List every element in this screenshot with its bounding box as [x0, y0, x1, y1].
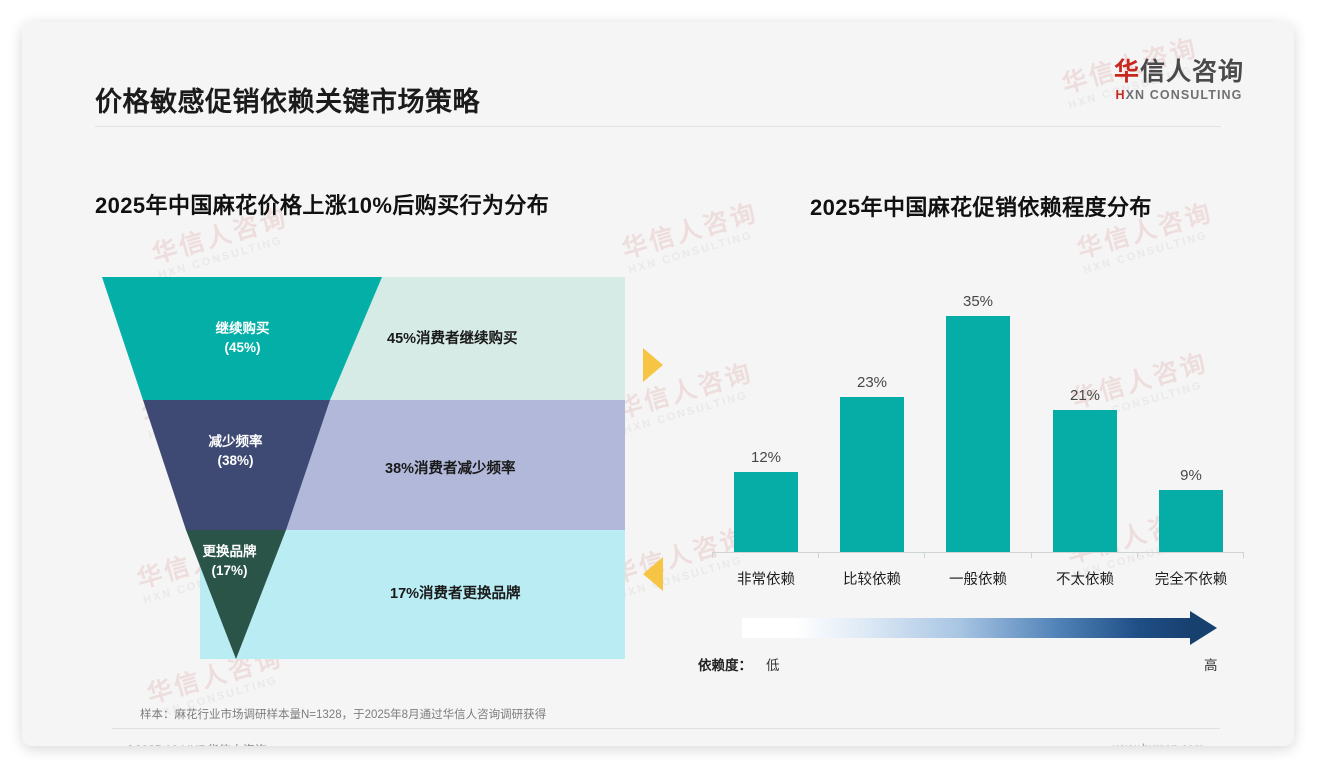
title-divider [95, 126, 1221, 127]
legend-caption: 依赖度： [698, 654, 752, 674]
bar-比较依赖[interactable] [840, 397, 904, 552]
slide-card: 华信人咨询 HXN CONSULTING 华信人咨询 HXN CONSULTIN… [22, 22, 1294, 746]
legend-low-label: 低 [766, 654, 780, 674]
x-axis-category-label: 完全不依赖 [1137, 568, 1245, 589]
website-url[interactable]: www.hxrcon.com [1113, 741, 1204, 746]
bar-不太依赖[interactable] [1053, 410, 1117, 552]
bar-非常依赖[interactable] [734, 472, 798, 552]
x-axis-tick [1137, 553, 1138, 558]
footer-divider [112, 728, 1220, 729]
arrow-right-icon [1190, 611, 1217, 645]
x-axis-line [712, 552, 1244, 553]
x-axis-category-label: 非常依赖 [712, 568, 820, 589]
bar-value-label: 9% [1141, 467, 1241, 484]
bar-value-label: 12% [716, 449, 816, 466]
copyright-text: ©2025.10 HXR华信人咨询 [126, 741, 267, 746]
watermark-en: HXN CONSULTING [1082, 226, 1220, 277]
x-axis-tick [818, 553, 819, 558]
dependency-bar-chart: 12% 23% 35% 21% 9% 非常依赖 比较依赖 一般依赖 不太依赖 [698, 284, 1258, 594]
watermark: 华信人咨询 HXN CONSULTING [619, 199, 765, 277]
x-axis-category-label: 一般依赖 [924, 568, 1032, 589]
segment-3-name: 更换品牌 [192, 542, 267, 561]
segment-1-pct: (45%) [205, 338, 280, 357]
funnel-segment-2-label: 减少频率 (38%) [198, 432, 273, 470]
company-logo: 华信人咨询 HXN CONSULTING [1114, 58, 1244, 102]
gradient-bar [742, 618, 1192, 638]
funnel-chart: 继续购买 (45%) 减少频率 (38%) 更换品牌 (17%) 45%消费者继… [100, 277, 625, 659]
source-note: 样本：麻花行业市场调研样本量N=1328，于2025年8月通过华信人咨询调研获得 [140, 706, 546, 722]
bar-value-label: 23% [822, 374, 922, 391]
x-axis-tick [924, 553, 925, 558]
segment-1-name: 继续购买 [205, 319, 280, 338]
logo-en-accent: H [1115, 88, 1125, 102]
bar-一般依赖[interactable] [946, 316, 1010, 552]
x-axis-tick [1031, 553, 1032, 558]
logo-chinese: 华信人咨询 [1114, 58, 1244, 86]
watermark-en: HXN CONSULTING [627, 226, 765, 277]
funnel-svg [100, 277, 625, 659]
funnel-segment-1-label: 继续购买 (45%) [205, 319, 280, 357]
logo-english: HXN CONSULTING [1114, 88, 1244, 102]
play-left-icon [643, 557, 663, 591]
funnel-band-3-text: 17%消费者更换品牌 [390, 582, 521, 603]
logo-cn-accent: 华 [1114, 58, 1140, 86]
x-axis-category-label: 比较依赖 [818, 568, 926, 589]
segment-3-pct: (17%) [192, 561, 267, 580]
legend-high-label: 高 [1204, 654, 1218, 674]
left-panel-title: 2025年中国麻花价格上涨10%后购买行为分布 [95, 188, 549, 220]
watermark-cn: 华信人咨询 [619, 199, 762, 265]
logo-cn-rest: 信人咨询 [1140, 58, 1244, 86]
segment-2-name: 减少频率 [198, 432, 273, 451]
slide-header: 价格敏感促销依赖关键市场策略 华信人咨询 HXN CONSULTING [22, 22, 1294, 126]
chart-plot-area: 12% 23% 35% 21% 9% 非常依赖 比较依赖 一般依赖 不太依赖 [712, 284, 1244, 552]
watermark-en: HXN CONSULTING [157, 231, 295, 282]
right-panel-title: 2025年中国麻花促销依赖程度分布 [810, 190, 1152, 222]
funnel-band-1-text: 45%消费者继续购买 [387, 327, 518, 348]
x-axis-tick [712, 553, 713, 558]
bar-完全不依赖[interactable] [1159, 490, 1223, 552]
x-axis-category-label: 不太依赖 [1031, 568, 1139, 589]
funnel-band-2-text: 38%消费者减少频率 [385, 457, 516, 478]
segment-2-pct: (38%) [198, 451, 273, 470]
bar-value-label: 21% [1035, 387, 1135, 404]
bar-value-label: 35% [928, 293, 1028, 310]
funnel-segment-3-label: 更换品牌 (17%) [192, 542, 267, 580]
x-axis-tick [1243, 553, 1244, 558]
logo-en-rest: XN CONSULTING [1126, 88, 1243, 102]
play-right-icon [643, 348, 663, 382]
dependency-gradient-legend: 依赖度： 低 高 [698, 618, 1258, 680]
page-title: 价格敏感促销依赖关键市场策略 [95, 80, 480, 119]
